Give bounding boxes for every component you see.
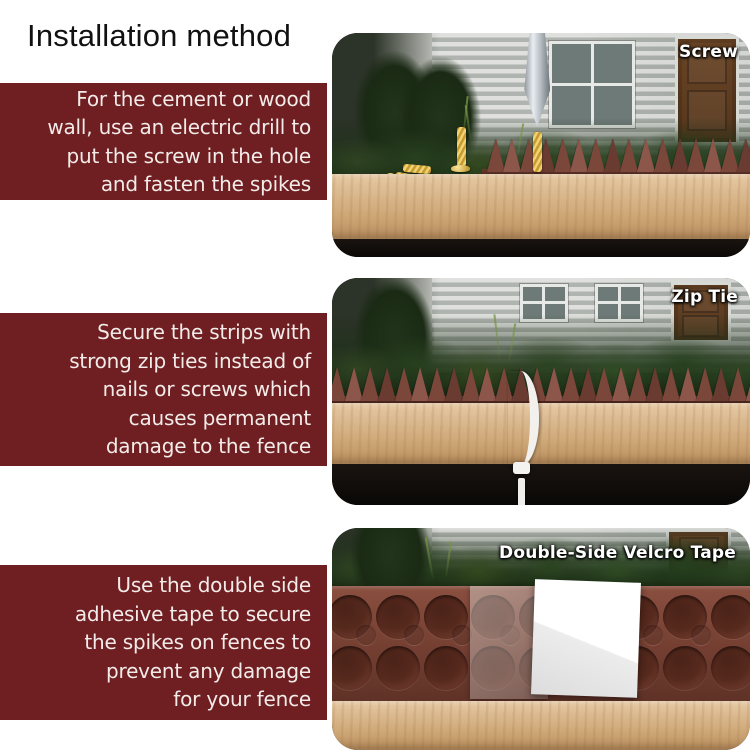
instruction-band-zip-tie: Secure the strips with strong zip ties i… bbox=[0, 313, 327, 466]
photo-label-zip-tie: Zip Tie bbox=[671, 287, 738, 307]
screw-standing bbox=[457, 127, 466, 167]
zip-tie-head bbox=[513, 462, 530, 474]
photo-panel-zip-tie bbox=[332, 278, 750, 505]
photo-label-screw: Screw bbox=[679, 42, 738, 62]
scene-screw bbox=[332, 33, 750, 257]
zip-tie-tail bbox=[518, 478, 525, 505]
photo-label-velcro-tape: Double-Side Velcro Tape bbox=[499, 543, 736, 563]
instruction-band-screw: For the cement or wood wall, use an elec… bbox=[0, 83, 327, 200]
instruction-text-zip-tie: Secure the strips with strong zip ties i… bbox=[69, 318, 311, 461]
beam-shadow bbox=[332, 239, 750, 257]
wood-beam bbox=[332, 701, 750, 750]
instruction-text-screw: For the cement or wood wall, use an elec… bbox=[47, 85, 311, 199]
wood-beam bbox=[332, 403, 750, 464]
instruction-text-velcro-tape: Use the double side adhesive tape to sec… bbox=[75, 571, 311, 714]
instruction-band-velcro-tape: Use the double side adhesive tape to sec… bbox=[0, 565, 327, 720]
screw-in-strip bbox=[533, 132, 542, 172]
scene-zip-tie bbox=[332, 278, 750, 505]
house-window bbox=[549, 41, 634, 128]
beam-shadow bbox=[332, 464, 750, 505]
white-velcro-tape bbox=[531, 579, 641, 698]
photo-panel-screw bbox=[332, 33, 750, 257]
wood-beam bbox=[332, 174, 750, 239]
page-title: Installation method bbox=[27, 16, 291, 56]
screw-head-standing bbox=[451, 165, 470, 172]
